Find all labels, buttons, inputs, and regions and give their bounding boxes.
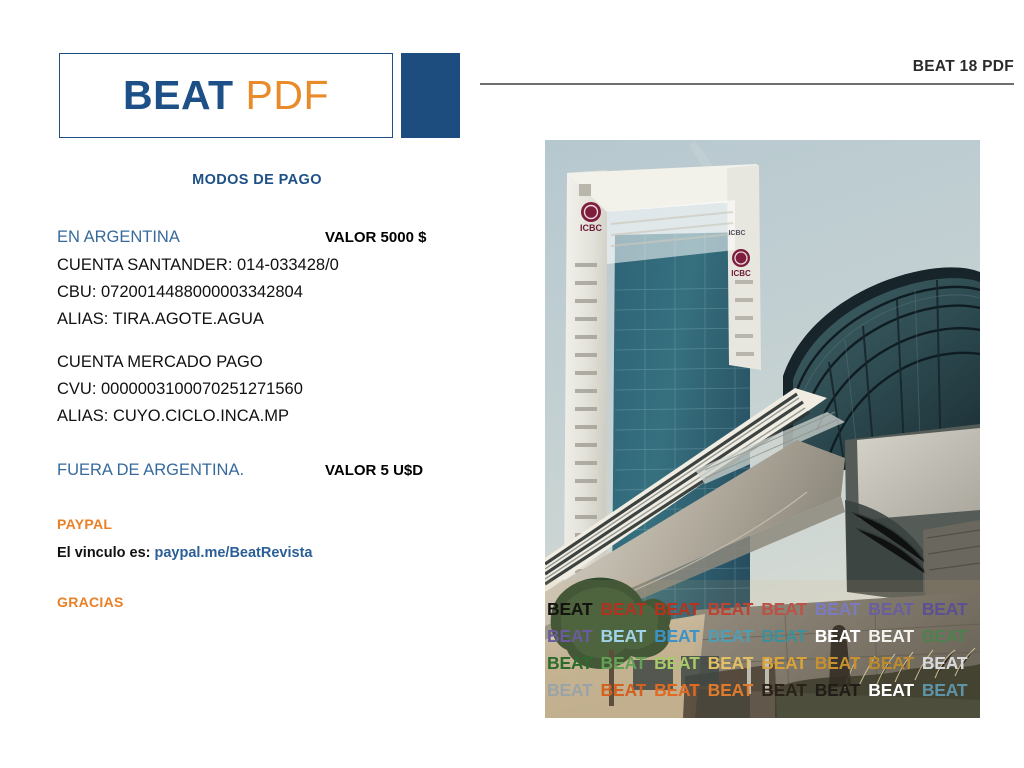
- page-header: BEAT 18 PDF: [480, 58, 1014, 85]
- spacer-3: [57, 489, 457, 516]
- thanks-heading: GRACIAS: [57, 594, 457, 610]
- argentina-price-row: EN ARGENTINA VALOR 5000 $: [57, 228, 457, 247]
- svg-text:ICBC: ICBC: [580, 223, 602, 233]
- beat-word: BEAT: [761, 623, 807, 650]
- exterior-region-label: FUERA DE ARGENTINA.: [57, 461, 325, 480]
- brand-logo-beat: BEAT: [123, 72, 234, 118]
- cbu-line: CBU: 0720014488000003342804: [57, 283, 457, 302]
- exterior-price-row: FUERA DE ARGENTINA. VALOR 5 U$D: [57, 461, 457, 480]
- paypal-link-label: El vinculo es:: [57, 545, 155, 561]
- svg-text:ICBC: ICBC: [731, 269, 751, 278]
- beat-word: BEAT: [708, 623, 754, 650]
- beat-word: BEAT: [547, 677, 593, 704]
- argentina-region-label: EN ARGENTINA: [57, 228, 325, 247]
- beat-word: BEAT: [922, 596, 968, 623]
- beat-word: BEAT: [868, 596, 914, 623]
- beat-word: BEAT: [922, 623, 968, 650]
- beat-word-overlay: BEATBEATBEATBEATBEATBEATBEATBEAT BEATBEA…: [545, 596, 980, 704]
- payment-info-panel: MODOS DE PAGO EN ARGENTINA VALOR 5000 $ …: [57, 172, 457, 623]
- beat-word: BEAT: [654, 596, 700, 623]
- beat-word: BEAT: [868, 677, 914, 704]
- beat-word-row: BEATBEATBEATBEATBEATBEATBEATBEAT: [547, 650, 978, 677]
- page-header-title: BEAT 18 PDF: [480, 58, 1014, 83]
- santander-account-line: CUENTA SANTANDER: 014-033428/0: [57, 256, 457, 275]
- alias-santander-line: ALIAS: TIRA.AGOTE.AGUA: [57, 310, 457, 329]
- brand-logo-box: BEAT PDF: [59, 53, 393, 138]
- beat-word: BEAT: [547, 623, 593, 650]
- brand-logo-pdf: PDF: [245, 72, 329, 118]
- brand-logo-text: BEAT PDF: [123, 75, 329, 116]
- beat-word: BEAT: [868, 623, 914, 650]
- beat-word: BEAT: [815, 650, 861, 677]
- section-title: MODOS DE PAGO: [57, 172, 457, 188]
- beat-word: BEAT: [922, 677, 968, 704]
- beat-word: BEAT: [601, 623, 647, 650]
- beat-word: BEAT: [654, 623, 700, 650]
- exterior-price-value: VALOR 5 U$D: [325, 462, 423, 479]
- beat-word-row: BEATBEATBEATBEATBEATBEATBEATBEAT: [547, 677, 978, 704]
- spacer-4: [57, 561, 457, 594]
- beat-word: BEAT: [815, 677, 861, 704]
- beat-word: BEAT: [708, 650, 754, 677]
- cover-photo: ICBC ICBC ICBC: [545, 140, 980, 718]
- beat-word: BEAT: [868, 650, 914, 677]
- beat-word: BEAT: [815, 623, 861, 650]
- brand-color-swatch: [401, 53, 460, 138]
- svg-text:ICBC: ICBC: [728, 230, 745, 237]
- mercado-pago-account-line: CUENTA MERCADO PAGO: [57, 353, 457, 372]
- beat-word: BEAT: [761, 596, 807, 623]
- beat-word: BEAT: [815, 596, 861, 623]
- paypal-heading: PAYPAL: [57, 516, 457, 532]
- beat-word: BEAT: [708, 596, 754, 623]
- beat-word: BEAT: [654, 677, 700, 704]
- beat-word: BEAT: [761, 650, 807, 677]
- beat-word: BEAT: [547, 596, 593, 623]
- alias-mercado-pago-line: ALIAS: CUYO.CICLO.INCA.MP: [57, 407, 457, 426]
- paypal-link-line: El vinculo es: paypal.me/BeatRevista: [57, 545, 457, 561]
- spacer-2: [57, 434, 457, 461]
- cvu-line: CVU: 0000003100070251271560: [57, 380, 457, 399]
- spacer-1: [57, 337, 457, 353]
- beat-word: BEAT: [708, 677, 754, 704]
- beat-word-row: BEATBEATBEATBEATBEATBEATBEATBEAT: [547, 596, 978, 623]
- beat-word: BEAT: [601, 596, 647, 623]
- beat-word: BEAT: [601, 677, 647, 704]
- beat-word-row: BEATBEATBEATBEATBEATBEATBEATBEAT: [547, 623, 978, 650]
- argentina-price-value: VALOR 5000 $: [325, 229, 426, 246]
- paypal-link[interactable]: paypal.me/BeatRevista: [155, 545, 313, 561]
- beat-word: BEAT: [761, 677, 807, 704]
- beat-word: BEAT: [601, 650, 647, 677]
- beat-word: BEAT: [547, 650, 593, 677]
- beat-word: BEAT: [654, 650, 700, 677]
- page-header-rule: [480, 83, 1014, 85]
- beat-word: BEAT: [922, 650, 968, 677]
